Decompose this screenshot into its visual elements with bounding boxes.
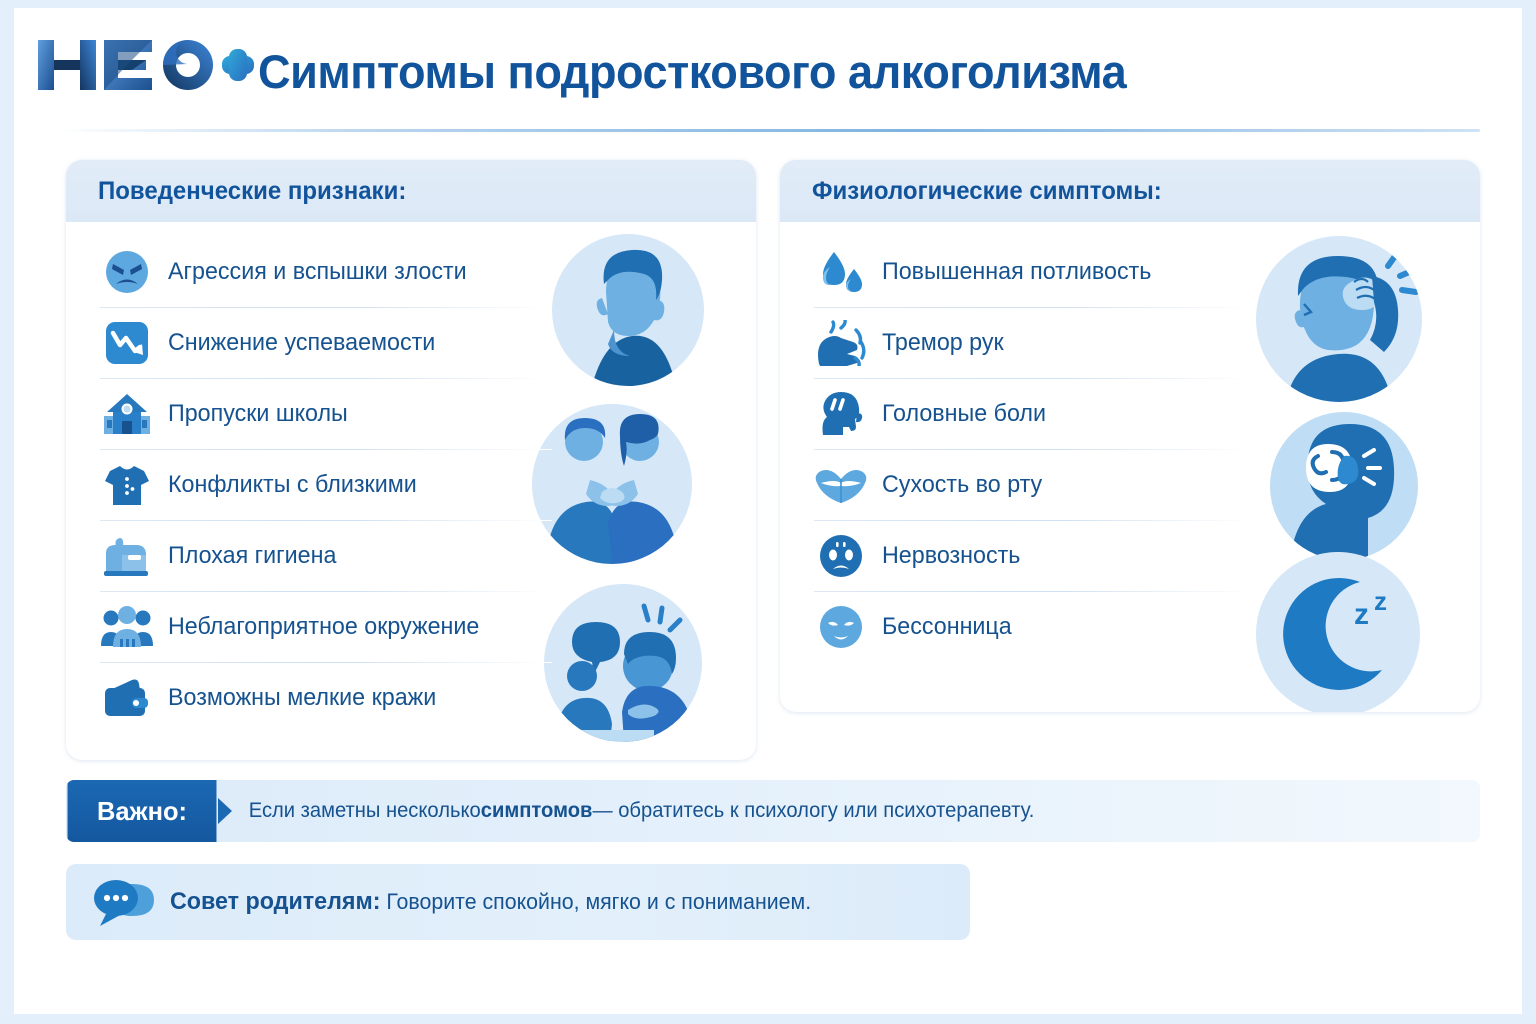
list-item-label: Агрессия и вспышки злости [168,258,467,286]
list-item[interactable]: Тремор рук [814,307,1480,378]
list-item[interactable]: Сухость во рту [814,449,1480,520]
list-item[interactable]: Нервозность [814,520,1480,591]
list-item[interactable]: Пропуски школы [100,378,756,449]
list-item[interactable]: Головные боли [814,378,1480,449]
panel-header-label: Поведенческие признаки: [98,177,406,206]
advice-text-rest: Говорите спокойно, мягко и с пониманием. [380,889,811,914]
worried-face-icon [814,529,868,583]
list-item-label: Нервозность [882,542,1020,570]
panel-physiological-symptoms: Физиологические симптомы: [780,160,1480,712]
wallet-icon [100,671,154,725]
list-item[interactable]: Возможны мелкие кражи [100,662,756,733]
page-title: Симптомы подросткового алкоголизма [258,44,1126,99]
list-item[interactable]: Повышенная потливость [814,236,1480,307]
trembling-hand-icon [814,316,868,370]
list-item-label: Плохая гигиена [168,542,336,570]
list-item[interactable]: Бессонница [814,591,1480,662]
panel-header-physiological: Физиологические симптомы: [780,160,1480,222]
important-banner-text: Если заметны несколько симптомов — обрат… [218,780,1430,842]
important-badge-label: Важно: [97,796,187,827]
lips-icon [814,458,868,512]
behavioral-symptom-list: Агрессия и вспышки злости Снижение успев… [66,236,756,733]
list-item[interactable]: Конфликты с близкими [100,449,756,520]
list-item-label: Повышенная потливость [882,258,1151,286]
list-item-label: Сухость во рту [882,471,1042,499]
group-people-icon [100,600,154,654]
list-item-label: Пропуски школы [168,400,348,428]
head-pain-icon [814,387,868,441]
list-item-label: Головные боли [882,400,1046,428]
important-text-after: — обратитесь к психологу или психотерапе… [592,799,1034,823]
list-item[interactable]: Плохая гигиена [100,520,756,591]
panel-body-physiological: z z Повышенная потливость [780,222,1480,662]
list-item[interactable]: Снижение успеваемости [100,307,756,378]
panel-header-label: Физиологические симптомы: [812,177,1162,206]
list-item[interactable]: Агрессия и вспышки злости [100,236,756,307]
panel-header-behavioral: Поведенческие признаки: [66,160,756,222]
important-banner: Важно: Если заметны несколько симптомов … [66,780,1480,842]
list-item-label: Конфликты с близкими [168,471,417,499]
important-text-bold: симптомов [481,799,593,823]
chat-bubbles-icon [92,876,156,928]
list-item-label: Снижение успеваемости [168,329,435,357]
header: Симптомы подросткового алкоголизма [14,8,1522,130]
status-badge: Важно: [68,780,217,842]
list-item-label: Возможны мелкие кражи [168,684,436,712]
school-building-icon [100,387,154,441]
important-text-before: Если заметны несколько [249,799,481,823]
advice-banner-text: Совет родителям: Говорите спокойно, мягк… [170,888,811,916]
list-item[interactable]: Неблагоприятное окружение [100,591,756,662]
advice-banner: Совет родителям: Говорите спокойно, мягк… [66,864,970,940]
infographic-poster: Симптомы подросткового алкоголизма Повед… [14,8,1522,1014]
angry-face-icon [100,245,154,299]
tshirt-icon [100,458,154,512]
neo-plus-logo [36,34,256,96]
list-item-label: Неблагоприятное окружение [168,613,479,641]
declining-chart-icon [100,316,154,370]
sleepy-face-icon [814,600,868,654]
advice-text-bold: Совет родителям: [170,888,380,915]
list-item-label: Тремор рук [882,329,1004,357]
panel-behavioral-signs: Поведенческие признаки: [66,160,756,760]
water-drops-icon [814,245,868,299]
panel-body-behavioral: Агрессия и вспышки злости Снижение успев… [66,222,756,733]
title-divider [56,129,1480,132]
soap-hygiene-icon [100,529,154,583]
list-item-label: Бессонница [882,613,1012,641]
physiological-symptom-list: Повышенная потливость [780,236,1480,662]
